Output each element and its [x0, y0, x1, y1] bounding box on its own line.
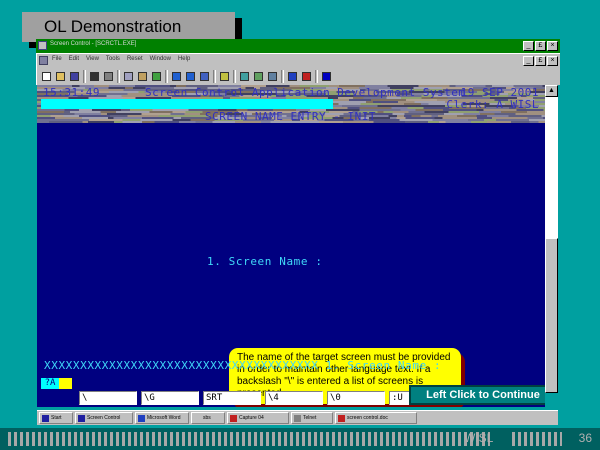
continue-button[interactable]: Left Click to Continue	[409, 385, 557, 405]
cut-icon-glyph	[124, 72, 133, 81]
inner-window-titlebar[interactable]: File Edit View Tools Reset Window Help _…	[37, 54, 560, 67]
chart-icon-glyph	[200, 72, 209, 81]
taskbar-item-label: Microsoft Word	[147, 415, 181, 421]
print-preview-icon[interactable]	[102, 70, 115, 83]
minimize-button[interactable]: _	[523, 41, 534, 51]
menu-item-edit[interactable]: Edit	[69, 56, 79, 62]
document-icon	[39, 56, 48, 65]
print-icon[interactable]	[88, 70, 101, 83]
help-icon[interactable]	[320, 70, 333, 83]
taskbar-item[interactable]: sbs	[191, 412, 225, 424]
compile-icon-glyph	[240, 72, 249, 81]
menu-bar: File Edit View Tools Reset Window Help	[52, 56, 190, 62]
taskbar-item-icon	[230, 415, 237, 422]
redo-icon-glyph	[186, 72, 195, 81]
inner-close-button[interactable]: ×	[547, 56, 558, 66]
taskbar-item-icon	[194, 415, 201, 422]
new-file-icon[interactable]	[40, 70, 53, 83]
terminal-screen[interactable]: 15:31:49 Screen Control Application Deve…	[37, 85, 545, 407]
taskbar-item[interactable]: Start	[39, 412, 73, 424]
paste-icon[interactable]	[150, 70, 163, 83]
cyan-highlight-bar	[41, 99, 333, 109]
taskbar-item[interactable]: Screen Control	[75, 412, 133, 424]
inner-minimize-button[interactable]: _	[523, 56, 534, 66]
inner-window-controls: _ £ ×	[523, 56, 558, 66]
debug-icon-glyph	[302, 72, 311, 81]
taskbar-item-label: sbs	[203, 415, 211, 421]
footer-bar-pattern-left	[8, 432, 490, 446]
goto-field[interactable]: \G	[141, 391, 199, 405]
toolbar-separator	[117, 70, 120, 83]
save-all-icon[interactable]	[218, 70, 231, 83]
outer-window-title: Screen Control - [SCRCTL.EXE]	[50, 41, 136, 47]
open-folder-icon-glyph	[56, 72, 65, 81]
copy-icon[interactable]	[136, 70, 149, 83]
toolbar-separator	[315, 70, 318, 83]
paste-icon-glyph	[152, 72, 161, 81]
restore-button[interactable]: £	[535, 41, 546, 51]
taskbar-item[interactable]: Telnet	[291, 412, 333, 424]
save-all-icon-glyph	[220, 72, 229, 81]
taskbar-item-label: Capture 04	[239, 415, 264, 421]
toolbar-separator	[213, 70, 216, 83]
scroll-up-arrow-icon[interactable]: ▲	[545, 85, 558, 97]
terminal-header: 15:31:49 Screen Control Application Deve…	[37, 85, 545, 123]
taskbar-item-icon	[78, 415, 85, 422]
find-icon-glyph	[268, 72, 277, 81]
taskbar-item[interactable]: screen control.doc	[335, 412, 417, 424]
zero-field[interactable]: \0	[327, 391, 385, 405]
menu-item-window[interactable]: Window	[150, 56, 171, 62]
copy-icon-glyph	[138, 72, 147, 81]
chart-icon[interactable]	[198, 70, 211, 83]
scrollbar-thumb[interactable]	[545, 238, 558, 393]
cut-icon[interactable]	[122, 70, 135, 83]
menu-item-tools[interactable]: Tools	[106, 56, 120, 62]
undo-icon[interactable]	[170, 70, 183, 83]
command-field[interactable]: \	[79, 391, 137, 405]
slide-canvas: OL Demonstration Screen Control - [SCRCT…	[0, 0, 600, 450]
menu-item-reset[interactable]: Reset	[127, 56, 143, 62]
taskbar-item[interactable]: Microsoft Word	[135, 412, 189, 424]
redo-icon[interactable]	[184, 70, 197, 83]
taskbar-item-icon	[294, 415, 301, 422]
print-icon-glyph	[90, 72, 99, 81]
help-icon-glyph	[322, 72, 331, 81]
terminal-time: 15:31:49	[43, 86, 100, 99]
debug-icon[interactable]	[300, 70, 313, 83]
taskbar-item-label: Screen Control	[87, 415, 120, 421]
undo-icon-glyph	[172, 72, 181, 81]
page-number: 36	[579, 431, 592, 445]
terminal-screen-title: SCREEN NAME ENTRY - INIT	[205, 110, 376, 123]
windows-taskbar: StartScreen ControlMicrosoft WordsbsCapt…	[37, 410, 558, 425]
find-icon[interactable]	[266, 70, 279, 83]
toolbar-separator	[281, 70, 284, 83]
page-title: OL Demonstration	[44, 17, 181, 37]
open-folder-icon[interactable]	[54, 70, 67, 83]
toolbar-separator	[83, 70, 86, 83]
inner-window: File Edit View Tools Reset Window Help _…	[36, 53, 560, 85]
taskbar-item-label: Start	[51, 415, 62, 421]
compile-icon[interactable]	[238, 70, 251, 83]
taskbar-item-icon	[138, 415, 145, 422]
taskbar-item[interactable]: Capture 04	[227, 412, 289, 424]
taskbar-item-label: Telnet	[303, 415, 316, 421]
cursor-indicator: ?A	[41, 378, 59, 389]
screen-name-label: 1. Screen Name :	[207, 255, 323, 268]
application-icon	[38, 41, 47, 50]
terminal-system-title: Screen Control Application Development S…	[145, 86, 466, 99]
inner-restore-button[interactable]: £	[535, 56, 546, 66]
toolbar-separator	[165, 70, 168, 83]
slide-title-box: OL Demonstration	[22, 12, 235, 42]
footer-label: WISL	[464, 431, 493, 445]
outer-window-titlebar[interactable]: Screen Control - [SCRCTL.EXE] _ £ ×	[36, 39, 560, 53]
new-file-icon-glyph	[42, 72, 51, 81]
taskbar-item-icon	[338, 415, 345, 422]
save-disk-icon[interactable]	[68, 70, 81, 83]
menu-item-view[interactable]: View	[86, 56, 99, 62]
function4-field[interactable]: \4	[265, 391, 323, 405]
slide-footer: WISL 36	[0, 428, 600, 450]
run-icon-glyph	[254, 72, 263, 81]
scrollbar-bottom-filler	[545, 393, 558, 407]
sort-field[interactable]: SRT	[203, 391, 261, 405]
menu-item-help[interactable]: Help	[178, 56, 190, 62]
terminal-status-line: XXXXXXXXXXXXXXXXXXXXXXXXXXXXXXXXXXXXXX 1…	[44, 359, 441, 372]
footer-bar-pattern-right	[512, 432, 562, 446]
properties-icon-glyph	[288, 72, 297, 81]
menu-item-file[interactable]: File	[52, 56, 62, 62]
taskbar-item-icon	[42, 415, 49, 422]
save-disk-icon-glyph	[70, 72, 79, 81]
terminal-clerk: Clerk: A WISL	[446, 98, 539, 111]
toolbar-separator	[233, 70, 236, 83]
properties-icon[interactable]	[286, 70, 299, 83]
print-preview-icon-glyph	[104, 72, 113, 81]
taskbar-item-label: screen control.doc	[347, 415, 388, 421]
run-icon[interactable]	[252, 70, 265, 83]
cursor-highlight	[59, 378, 72, 389]
toolbar	[37, 67, 560, 85]
outer-window-controls: _ £ ×	[523, 41, 558, 51]
close-button[interactable]: ×	[547, 41, 558, 51]
